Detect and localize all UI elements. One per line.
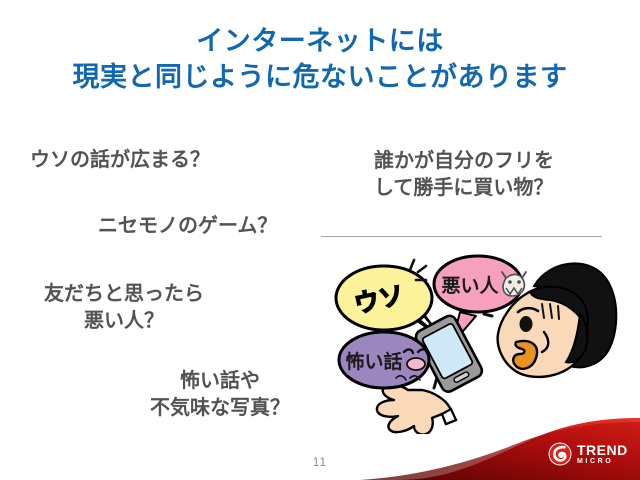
- speech-bubble-kowaihanashi: 怖い話: [339, 332, 429, 388]
- smartphone-threats-illustration: ウソ 悪い人 怖い話: [330, 242, 630, 434]
- callout-dareka-line-2: して勝手に買い物？: [374, 175, 554, 202]
- page-title: インターネットには 現実と同じように危ないことがあります: [0, 24, 640, 96]
- callout-tomodachi: 友だちと思ったら 悪い人？: [44, 281, 204, 335]
- trend-micro-mark-icon: [548, 442, 572, 466]
- callout-nisemono-line-1: ニセモノのゲーム？: [98, 213, 277, 240]
- callout-tomodachi-line-1: 友だちと思ったら: [44, 281, 204, 308]
- title-line-2: 現実と同じように危ないことがあります: [0, 60, 640, 96]
- callout-dareka: 誰かが自分のフリを して勝手に買い物？: [374, 148, 554, 202]
- callout-tomodachi-line-2: 悪い人？: [44, 308, 204, 335]
- slide-canvas: インターネットには 現実と同じように危ないことがあります ウソの話が広まる？ 誰…: [0, 0, 640, 480]
- callout-kowai-line-1: 怖い話や: [150, 368, 290, 395]
- speech-bubble-waruihito: 悪い人: [434, 256, 526, 312]
- callout-nisemono: ニセモノのゲーム？: [98, 213, 277, 240]
- callout-kowai: 怖い話や 不気味な写真？: [150, 368, 290, 422]
- callout-uso: ウソの話が広まる？: [30, 147, 210, 174]
- brand-secondary-text: MICRO: [577, 458, 628, 465]
- trend-micro-logo: TREND MICRO: [548, 441, 628, 467]
- title-line-1: インターネットには: [0, 24, 640, 60]
- callout-uso-line-1: ウソの話が広まる？: [30, 147, 210, 174]
- brand-wordmark: TREND MICRO: [577, 443, 628, 465]
- bubble-label-waruihito: 悪い人: [441, 275, 499, 297]
- brand-primary-text: TREND: [577, 443, 628, 457]
- callout-dareka-line-1: 誰かが自分のフリを: [374, 148, 554, 175]
- horizontal-divider: [321, 236, 602, 237]
- callout-kowai-line-2: 不気味な写真？: [150, 395, 290, 422]
- bubble-label-kowaihanashi: 怖い話: [345, 350, 402, 373]
- speech-bubble-uso: ウソ: [336, 260, 432, 330]
